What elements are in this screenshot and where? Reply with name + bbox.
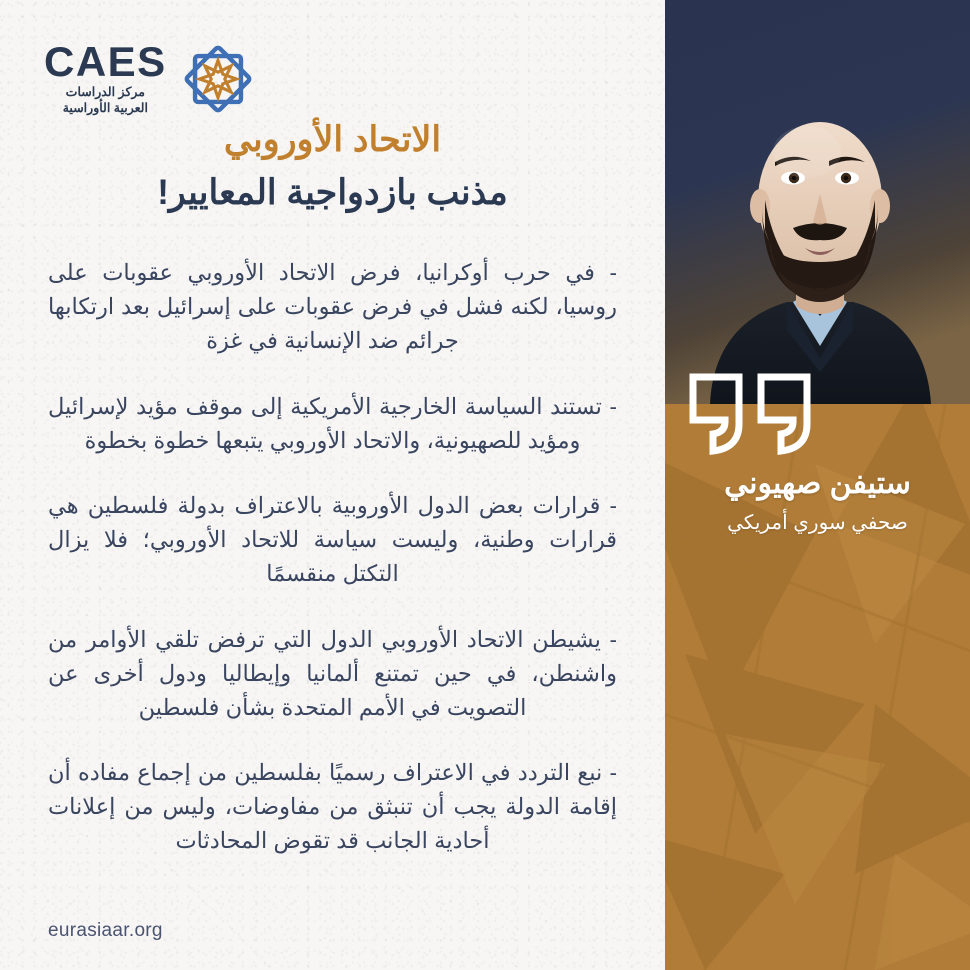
eight-pointed-star-icon: [181, 42, 255, 116]
headline-line-2: مذنب بازدواجية المعايير!: [48, 169, 617, 216]
body-paragraph: - في حرب أوكرانيا، فرض الاتحاد الأوروبي …: [48, 256, 617, 359]
body-paragraph: - تستند السياسة الخارجية الأمريكية إلى م…: [48, 390, 617, 458]
content-column: CAES مركز الدراسات العربية الأوراسية: [0, 0, 665, 970]
social-media-card: CAES مركز الدراسات العربية الأوراسية: [0, 0, 970, 970]
body-paragraph: - يشيطن الاتحاد الأوروبي الدول التي ترفض…: [48, 623, 617, 726]
speaker-role: صحفي سوري أمريكي: [677, 510, 958, 535]
body-text: - في حرب أوكرانيا، فرض الاتحاد الأوروبي …: [48, 256, 617, 859]
website-url[interactable]: eurasiaar.org: [48, 920, 163, 942]
brand-arabic-line-2: العربية الأوراسية: [63, 101, 148, 117]
closing-quotation-mark-icon: [683, 372, 821, 456]
speaker-info: ستيفن صهيوني صحفي سوري أمريكي: [665, 465, 970, 535]
brand-acronym: CAES: [44, 42, 167, 82]
speaker-name: ستيفن صهيوني: [677, 465, 958, 503]
speaker-photo: [665, 0, 970, 404]
headline: الاتحاد الأوروبي مذنب بازدواجية المعايير…: [48, 116, 617, 217]
speaker-panel: ستيفن صهيوني صحفي سوري أمريكي: [665, 0, 970, 970]
body-paragraph: - قرارات بعض الدول الأوروبية بالاعتراف ب…: [48, 489, 617, 592]
body-paragraph: - نبع التردد في الاعتراف رسميًا بفلسطين …: [48, 756, 617, 859]
brand-arabic-name: مركز الدراسات العربية الأوراسية: [63, 85, 148, 116]
speaker-portrait-illustration: [665, 0, 970, 404]
brand-logo[interactable]: CAES مركز الدراسات العربية الأوراسية: [44, 42, 255, 116]
brand-arabic-line-1: مركز الدراسات: [63, 85, 148, 101]
brand-logo-text: CAES مركز الدراسات العربية الأوراسية: [44, 42, 167, 116]
headline-line-1: الاتحاد الأوروبي: [48, 116, 617, 163]
